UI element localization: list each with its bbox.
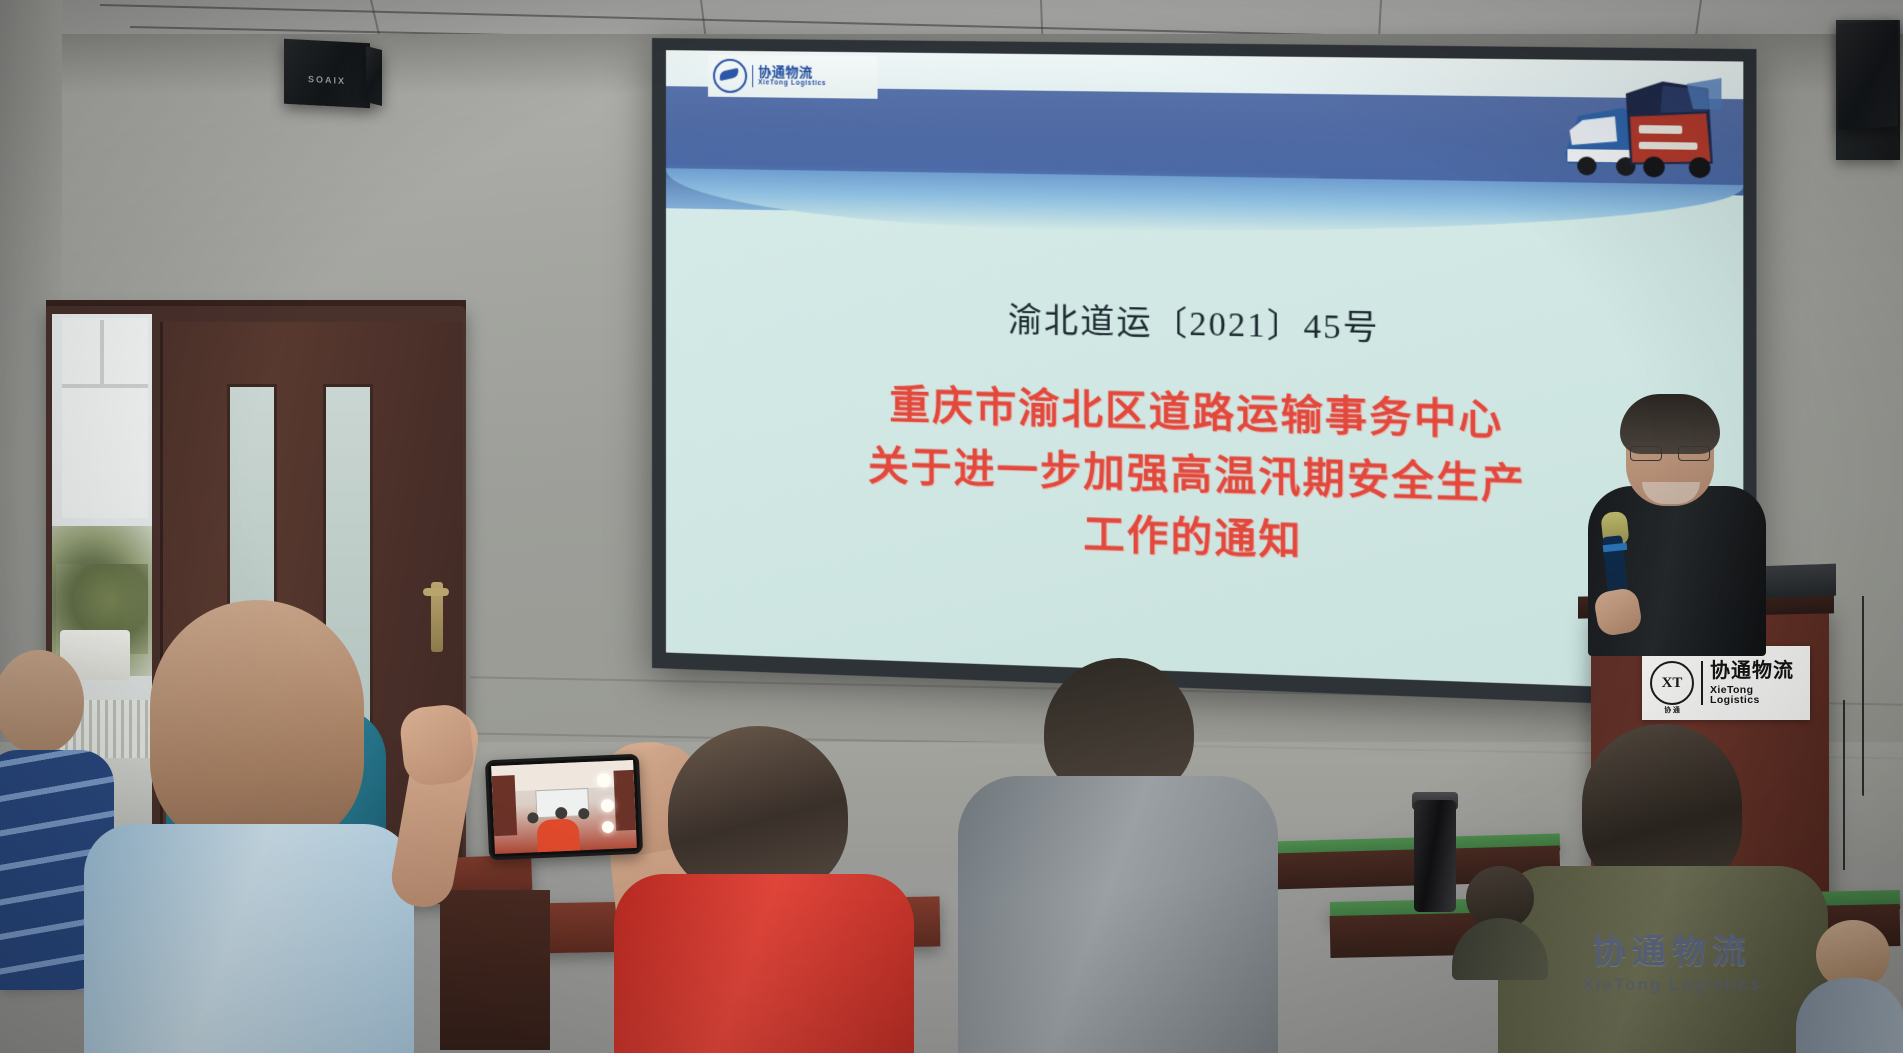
phone-view-head-1 xyxy=(527,812,538,823)
shirt-print: 协通物流 XieTong Logistics xyxy=(1552,924,1792,995)
podium-sign-divider xyxy=(1701,661,1703,705)
wall-speaker-left-side xyxy=(366,46,382,106)
podium-logo-submark: 协 通 xyxy=(1652,705,1692,715)
slide-logo-cn: 协通物流 xyxy=(758,65,826,79)
speaker-brand-label: SOAIX xyxy=(284,73,370,88)
phone-view-wall-left xyxy=(492,775,517,836)
conference-room-photo: SOAIX 协通物流 X xyxy=(0,0,1903,1053)
podium-logo-mark: XT 协 通 xyxy=(1650,661,1694,705)
audience-member-grey xyxy=(958,658,1278,1053)
glasses-icon xyxy=(1630,446,1710,459)
truck-graphic xyxy=(1559,66,1722,183)
podium-cable xyxy=(1862,596,1864,796)
torso xyxy=(614,874,914,1053)
head xyxy=(668,726,848,896)
slide-company-logo: 协通物流 XieTong Logistics xyxy=(708,55,878,99)
audience-member-red xyxy=(614,726,914,1053)
door-handle-lever[interactable] xyxy=(423,588,449,596)
slide-title-line-3: 工作的通知 xyxy=(1083,503,1302,572)
wall-speaker-right xyxy=(1838,20,1898,130)
phone-view-lamp-2 xyxy=(601,799,615,813)
phone-view-lamp-3 xyxy=(602,821,615,834)
thermos-bottle[interactable] xyxy=(1414,800,1456,912)
podium-company-sign: XT 协 通 协通物流 XieTong Logistics xyxy=(1642,646,1810,720)
head xyxy=(150,600,364,850)
audience-member-rear-right xyxy=(1452,866,1548,976)
hand-left-holding-phone xyxy=(398,703,476,788)
slide-logo-en: XieTong Logistics xyxy=(758,81,826,88)
shirt-print-en: XieTong Logistics xyxy=(1552,975,1792,995)
torso xyxy=(84,824,414,1053)
exterior-window xyxy=(62,318,148,518)
shirt-print-cn: 协通物流 xyxy=(1552,924,1792,973)
phone-view-person-red xyxy=(536,818,580,854)
wall-speaker-left: SOAIX xyxy=(284,39,370,109)
swoosh-icon xyxy=(713,59,747,94)
phone-view-head-2 xyxy=(555,807,568,820)
window-mullion-v xyxy=(100,320,104,386)
podium-logo-initials: XT xyxy=(1662,675,1683,692)
slide-document-number: 渝北道运〔2021〕45号 xyxy=(1008,292,1380,349)
torso xyxy=(958,776,1278,1053)
podium-sign-en: XieTong Logistics xyxy=(1710,685,1802,706)
presenter-hair xyxy=(1620,394,1720,454)
audience-member-bald-lightblue xyxy=(84,600,414,1053)
window-mullion-h xyxy=(62,384,148,388)
presenter xyxy=(1582,394,1772,654)
phone-view-head-3 xyxy=(578,808,589,819)
torso xyxy=(1796,978,1903,1053)
podium-sign-cn: 协通物流 xyxy=(1710,661,1802,681)
torso xyxy=(1452,918,1548,980)
audience-member-right-edge xyxy=(1796,920,1903,1053)
mic-stand-cable xyxy=(1843,700,1845,870)
desk-front-left-tall xyxy=(440,890,550,1050)
